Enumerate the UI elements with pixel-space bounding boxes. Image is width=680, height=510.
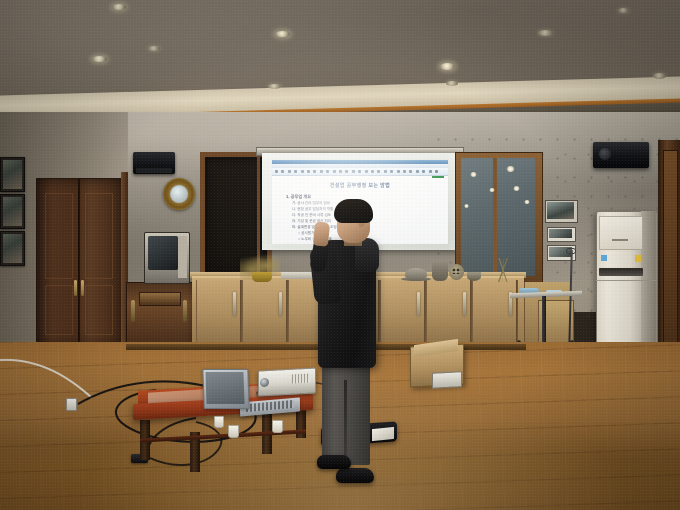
window-reflection-6 xyxy=(464,204,469,208)
framed-photo-middle xyxy=(0,194,25,229)
cabinet-handle-1[interactable] xyxy=(233,292,236,316)
window-reflection-5 xyxy=(524,200,530,204)
presenter-shoe-right xyxy=(336,468,374,483)
ceiling-downlight-4 xyxy=(538,30,553,36)
air-conditioner-vent xyxy=(599,268,643,276)
paper-cup-1 xyxy=(272,420,283,433)
paper-cup-3 xyxy=(214,416,224,428)
paper-cup-2 xyxy=(228,425,239,438)
tv-cabinet-handle-right[interactable] xyxy=(183,300,187,322)
right-wall-picture-2-image xyxy=(549,229,572,238)
framed-photo-bottom-image xyxy=(3,234,22,263)
door-handle-right[interactable] xyxy=(81,280,84,296)
floor-power-outlet[interactable] xyxy=(66,398,77,411)
straw-hat xyxy=(405,268,427,280)
right-wall-picture-1-image xyxy=(547,202,574,219)
left-wall-speaker-bracket xyxy=(136,168,172,173)
framed-photo-top xyxy=(0,157,25,192)
air-conditioner-blue-label xyxy=(601,255,607,261)
laptop-display xyxy=(205,372,244,404)
cabinet-handle-6[interactable] xyxy=(463,292,466,316)
decorative-bowl xyxy=(467,272,481,281)
ceiling-downlight-11 xyxy=(618,8,629,13)
ceiling-downlight-1 xyxy=(112,4,126,10)
air-conditioner-logo xyxy=(612,239,628,241)
window-reflection-4 xyxy=(513,186,520,191)
air-conditioner-upper-panel xyxy=(599,216,643,250)
presenter-raised-hand xyxy=(313,221,330,246)
wooden-double-door[interactable] xyxy=(36,178,124,346)
tv-cabinet-panel xyxy=(139,292,181,306)
framed-photo-top-image xyxy=(3,160,22,189)
framed-photo-middle-image xyxy=(3,197,22,226)
framed-photo-bottom xyxy=(0,231,25,266)
ceramic-vase xyxy=(432,262,448,281)
metal-pole-hook xyxy=(566,248,576,254)
projector-vent xyxy=(292,374,310,384)
crt-television-screen xyxy=(148,236,178,270)
window-reflection-2 xyxy=(489,188,495,192)
door-handle-left[interactable] xyxy=(74,280,77,296)
window-reflection-3 xyxy=(506,166,515,172)
ceiling-downlight-3 xyxy=(440,63,455,70)
cabinet-handle-2[interactable] xyxy=(279,292,282,316)
bag-papers xyxy=(372,427,394,441)
wall-clock-face xyxy=(171,186,187,202)
window-reflection-1 xyxy=(470,172,477,177)
plant-pot xyxy=(252,272,272,282)
crt-television-side-panel xyxy=(178,236,187,278)
right-wall-speaker-cone xyxy=(599,148,611,160)
ceiling-downlight-8 xyxy=(446,81,458,86)
presenter-trousers-seam xyxy=(344,380,347,462)
ceiling-downlight-2 xyxy=(275,31,290,37)
dried-branch xyxy=(484,258,522,282)
presenter-hair xyxy=(334,199,373,223)
presenter-shoe-left xyxy=(317,455,351,469)
cabinet-handle-5[interactable] xyxy=(417,292,420,316)
door-center-seam xyxy=(78,178,80,344)
paper-stack xyxy=(281,272,316,279)
ceiling-downlight-9 xyxy=(653,73,666,79)
air-conditioner-seam xyxy=(596,280,656,281)
ceiling-downlight-7 xyxy=(268,84,281,89)
tv-cabinet-handle-left[interactable] xyxy=(131,300,135,322)
ceiling-downlight-5 xyxy=(92,56,107,62)
ceiling-downlight-6 xyxy=(148,46,160,51)
photograph-scene: 건설업 공무행정 보는 방법 1. 공무업 개요 가. 공사 관리 업무의 범위… xyxy=(0,0,680,510)
air-conditioner-yellow-label xyxy=(635,255,641,262)
decorative-mask-detail xyxy=(452,268,461,274)
